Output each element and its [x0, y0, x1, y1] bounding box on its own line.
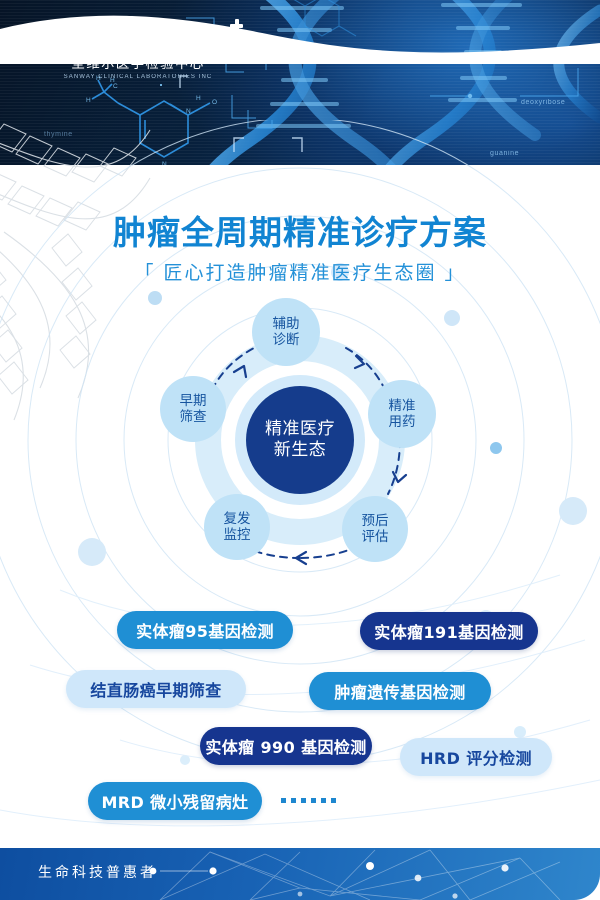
node-prognosis-assessment[interactable]: 预后 评估 [342, 496, 408, 562]
node-label-line1: 精准 [389, 398, 416, 414]
node-label-line2: 监控 [224, 527, 251, 543]
core-line-1: 精准医疗 [265, 419, 335, 440]
page-title: 肿瘤全周期精准诊疗方案 [0, 206, 600, 254]
svg-text:C: C [113, 83, 118, 90]
precision-medicine-cycle-diagram: 精准医疗 新生态 辅助 诊断 精准 用药 预后 评估 复发 监控 早期 筛查 [160, 300, 440, 580]
brand-name-cn: 圣维尔医学检验中心 [48, 52, 228, 72]
node-assisted-diagnosis[interactable]: 辅助 诊断 [252, 298, 320, 366]
node-early-screening[interactable]: 早期 筛查 [160, 376, 226, 442]
page-subtitle: 「 匠心打造肿瘤精准医疗生态圈 」 [0, 258, 600, 285]
dna-label-deoxyribose: deoxyribose [521, 99, 565, 106]
pill-mrd[interactable]: MRD 微小残留病灶 [88, 782, 262, 820]
node-label-line1: 复发 [224, 511, 251, 527]
cycle-core-label: 精准医疗 新生态 [246, 386, 354, 494]
pill-colorectal-screening[interactable]: 结直肠癌早期筛查 [66, 670, 246, 708]
pill-hrd-score[interactable]: HRD 评分检测 [400, 738, 552, 776]
node-label-line2: 筛查 [180, 409, 207, 425]
footer-bar: 生命科技普惠者 [0, 848, 600, 900]
pill-solid-tumor-95[interactable]: 实体瘤95基因检测 [117, 611, 293, 649]
medical-cross-icon [230, 19, 243, 32]
node-label-line1: 辅助 [273, 316, 300, 332]
svg-text:O: O [212, 99, 217, 106]
footer-slogan: 生命科技普惠者 [38, 862, 157, 882]
node-recurrence-monitoring[interactable]: 复发 监控 [204, 494, 270, 560]
node-label-line2: 诊断 [273, 332, 300, 348]
svg-text:H: H [196, 95, 201, 102]
node-label-line1: 早期 [180, 393, 207, 409]
core-line-2: 新生态 [274, 440, 327, 461]
pill-hereditary-tumor[interactable]: 肿瘤遗传基因检测 [309, 672, 491, 710]
node-label-line2: 评估 [362, 529, 389, 545]
poster-root: HHH C HN ON deoxyribose guanine thymine … [0, 0, 600, 900]
brand-name-en: SANWAY CLINICAL LABORATORIES INC [48, 74, 228, 80]
logo-swoosh-divider [63, 28, 213, 37]
svg-text:N: N [186, 108, 191, 115]
more-items-dots [281, 798, 336, 803]
pill-solid-tumor-990[interactable]: 实体瘤 990 基因检测 [200, 727, 372, 765]
node-precision-medication[interactable]: 精准 用药 [368, 380, 436, 448]
brand-logo: SANWAY 圣维尔医学检验中心 SANWAY CLINICAL LABORAT… [48, 26, 228, 80]
pill-solid-tumor-191[interactable]: 实体瘤191基因检测 [360, 612, 538, 650]
svg-text:H: H [86, 97, 91, 104]
node-label-line1: 预后 [362, 513, 389, 529]
node-label-line2: 用药 [389, 414, 416, 430]
